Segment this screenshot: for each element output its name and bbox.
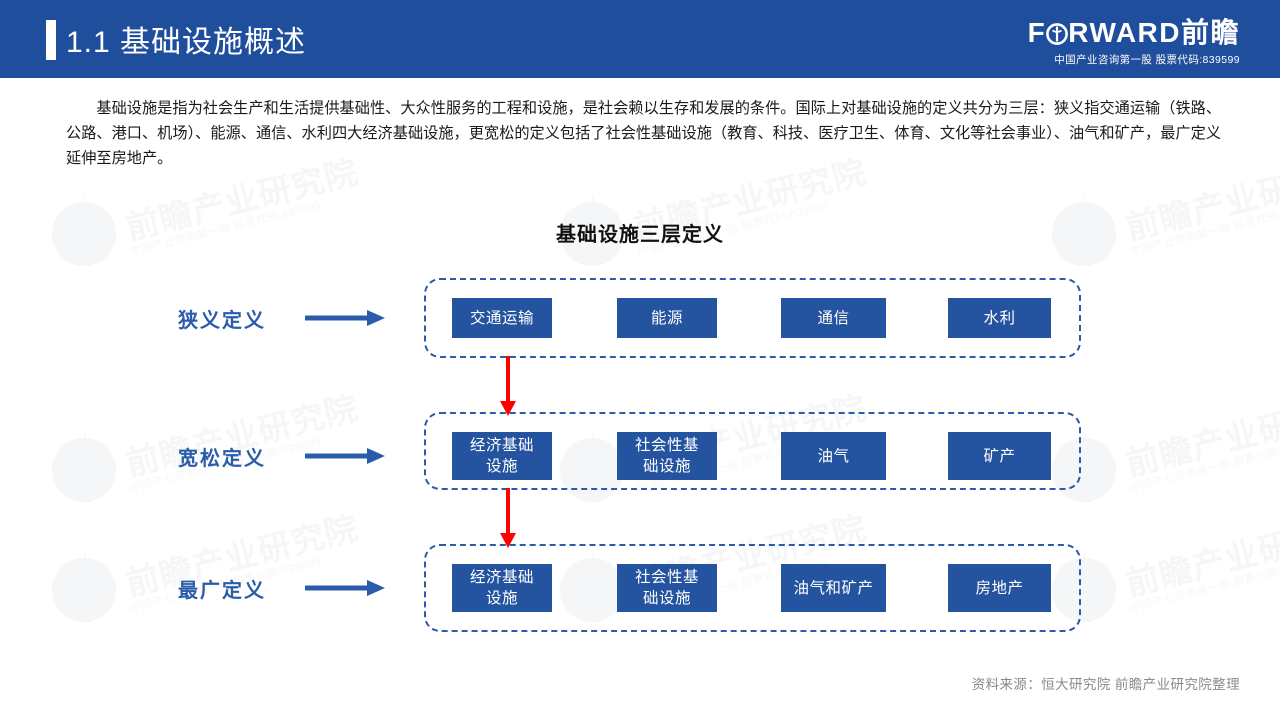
node-label: 通信 — [817, 308, 849, 329]
node-box[interactable]: 房地产 — [948, 564, 1051, 612]
brand-globe-icon — [1046, 19, 1068, 47]
node-label: 矿产 — [983, 446, 1015, 467]
node-box[interactable]: 矿产 — [948, 432, 1051, 480]
intro-paragraph: 基础设施是指为社会生产和生活提供基础性、大众性服务的工程和设施，是社会赖以生存和… — [66, 96, 1221, 171]
node-box[interactable]: 油气 — [781, 432, 886, 480]
node-box[interactable]: 社会性基础设施 — [617, 564, 717, 612]
node-box[interactable]: 经济基础设施 — [452, 432, 552, 480]
node-label: 房地产 — [975, 578, 1023, 599]
node-box[interactable]: 油气和矿产 — [781, 564, 886, 612]
node-label: 经济基础设施 — [470, 435, 534, 477]
brand-wordmark: F RWARD前瞻 — [1028, 19, 1240, 47]
tier-connector-arrow-1 — [499, 356, 517, 416]
brand-tagline: 中国产业咨询第一股 股票代码:839599 — [1028, 52, 1240, 67]
page-title: 1.1 基础设施概述 — [66, 17, 306, 61]
node-box[interactable]: 能源 — [617, 298, 717, 338]
node-label: 水利 — [983, 308, 1015, 329]
header-bar: 1.1 基础设施概述 F RWARD前瞻 中国产业咨询第一股 股票代码:8395… — [0, 0, 1280, 78]
tier-arrow-3 — [305, 579, 385, 597]
title-accent-bar — [46, 20, 56, 60]
chart-title: 基础设施三层定义 — [0, 218, 1280, 247]
node-label: 油气 — [817, 446, 849, 467]
node-label: 交通运输 — [470, 308, 534, 329]
brand-wordmark-f: F — [1028, 17, 1047, 48]
node-label: 社会性基础设施 — [635, 435, 699, 477]
node-box[interactable]: 交通运输 — [452, 298, 552, 338]
node-label: 能源 — [651, 308, 683, 329]
tier-arrow-2 — [305, 447, 385, 465]
tier-label-3: 最广定义 — [178, 574, 266, 603]
tier-label-2: 宽松定义 — [178, 442, 266, 471]
node-label: 社会性基础设施 — [635, 567, 699, 609]
tier-arrow-1 — [305, 309, 385, 327]
tier-connector-arrow-2 — [499, 488, 517, 548]
node-box[interactable]: 通信 — [781, 298, 886, 338]
node-box[interactable]: 社会性基础设施 — [617, 432, 717, 480]
tier-label-1: 狭义定义 — [178, 304, 266, 333]
node-label: 经济基础设施 — [470, 567, 534, 609]
node-label: 油气和矿产 — [793, 578, 873, 599]
source-note: 资料来源：恒大研究院 前瞻产业研究院整理 — [972, 673, 1240, 693]
brand-wordmark-rest: RWARD前瞻 — [1068, 17, 1240, 48]
brand-logo: F RWARD前瞻 中国产业咨询第一股 股票代码:839599 — [1028, 19, 1240, 67]
node-box[interactable]: 经济基础设施 — [452, 564, 552, 612]
node-box[interactable]: 水利 — [948, 298, 1051, 338]
